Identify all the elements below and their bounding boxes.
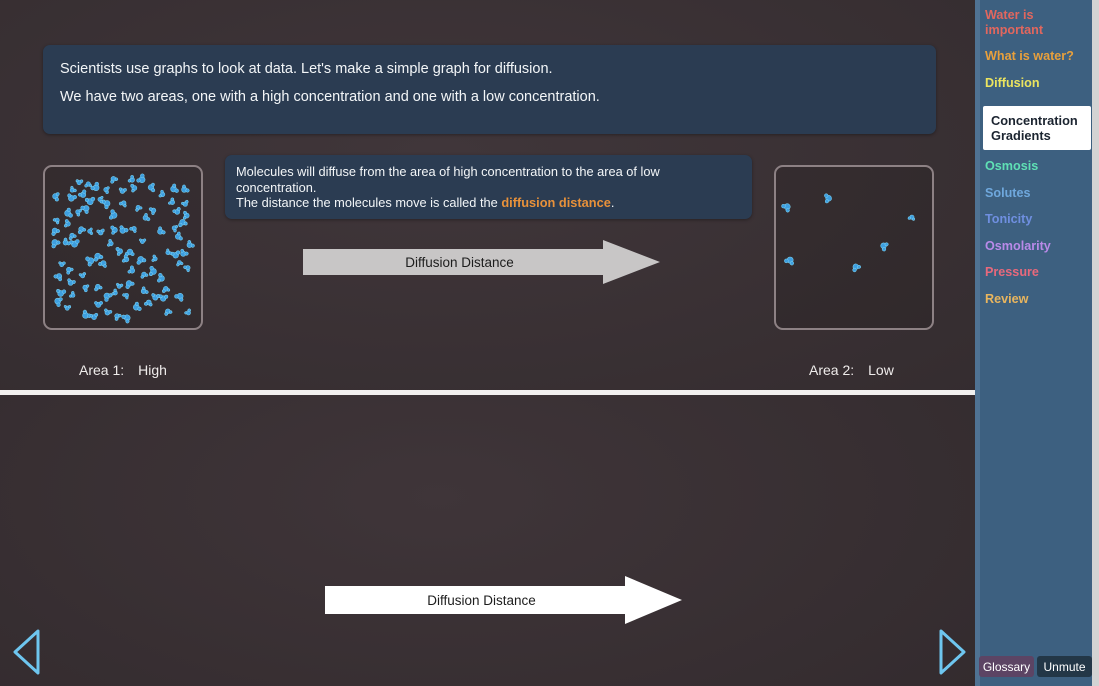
- lesson-app: Scientists use graphs to look at data. L…: [0, 0, 1099, 686]
- arrow-top-label: Diffusion Distance: [303, 240, 660, 284]
- chevron-left-icon: [10, 628, 44, 676]
- area1-value: High: [138, 362, 167, 378]
- area1-label-text: Area 1:: [79, 362, 124, 378]
- right-edge-strip: [1092, 0, 1099, 686]
- lesson-sidebar: [975, 0, 1092, 686]
- area2-molecules-svg: [776, 167, 932, 328]
- area1-molecule-box: [43, 165, 203, 330]
- sidebar-item-solutes[interactable]: Solutes: [985, 186, 1085, 201]
- area2-label: Area 2:Low: [809, 362, 894, 378]
- next-slide-button[interactable]: [935, 628, 969, 676]
- chevron-right-icon: [935, 628, 969, 676]
- glossary-button[interactable]: Glossary: [979, 656, 1034, 677]
- intro-textbox: Scientists use graphs to look at data. L…: [43, 45, 936, 134]
- sidebar-item-tonicity[interactable]: Tonicity: [985, 212, 1085, 227]
- diffusion-distance-arrow-top: Diffusion Distance: [303, 240, 660, 284]
- area2-value: Low: [868, 362, 894, 378]
- sidebar-item-review[interactable]: Review: [985, 292, 1085, 307]
- sidebar-item-what-is-water[interactable]: What is water?: [985, 49, 1085, 64]
- lesson-stage: Scientists use graphs to look at data. L…: [0, 0, 975, 686]
- intro-line-2: We have two areas, one with a high conce…: [60, 89, 919, 106]
- sidebar-item-pressure[interactable]: Pressure: [985, 265, 1085, 280]
- diffusion-note-textbox: Molecules will diffuse from the area of …: [225, 155, 752, 219]
- diffusion-note-line-3-post: .: [611, 195, 615, 210]
- diffusion-note-line-2: concentration.: [236, 180, 741, 196]
- area2-molecule-box: [774, 165, 934, 330]
- diffusion-note-line-1: Molecules will diffuse from the area of …: [236, 164, 741, 180]
- intro-line-1: Scientists use graphs to look at data. L…: [60, 61, 919, 78]
- sidebar-item-osmolarity[interactable]: Osmolarity: [985, 239, 1085, 254]
- diffusion-distance-arrow-bottom: Diffusion Distance: [325, 576, 682, 624]
- unmute-button[interactable]: Unmute: [1037, 656, 1092, 677]
- sidebar-item-diffusion[interactable]: Diffusion: [985, 76, 1085, 91]
- diffusion-note-line-3: The distance the molecules move is calle…: [236, 195, 741, 211]
- diffusion-note-line-3-pre: The distance the molecules move is calle…: [236, 195, 501, 210]
- diffusion-distance-term: diffusion distance: [501, 195, 611, 210]
- sidebar-item-osmosis[interactable]: Osmosis: [985, 159, 1085, 174]
- previous-slide-button[interactable]: [10, 628, 44, 676]
- sidebar-item-concentration-gradients[interactable]: Concentration Gradients: [983, 106, 1091, 150]
- area2-label-text: Area 2:: [809, 362, 854, 378]
- sidebar-left-strip: [975, 0, 980, 686]
- sidebar-item-water-is-important[interactable]: Water is important: [985, 8, 1085, 38]
- area1-molecules-svg: [45, 167, 201, 328]
- concentration-gradient-graph: Y X Concentration High Low The line on t…: [0, 395, 975, 686]
- arrow-bottom-label: Diffusion Distance: [325, 576, 682, 624]
- area1-label: Area 1:High: [79, 362, 167, 378]
